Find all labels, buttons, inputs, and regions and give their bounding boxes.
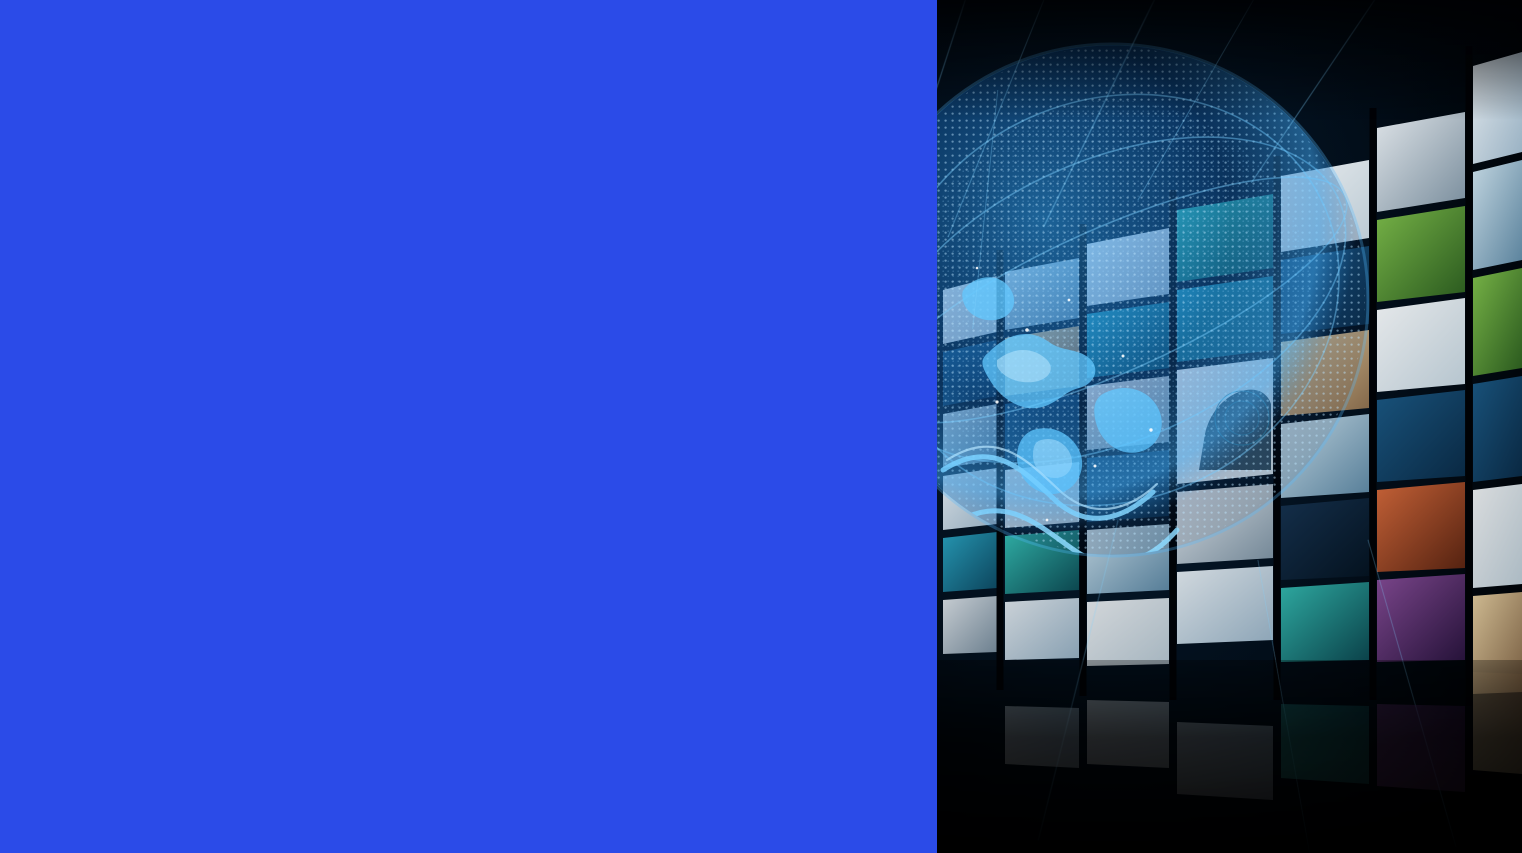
slide-canvas: best practices Broadcasting for Media an…	[0, 0, 1522, 853]
hero-photo	[937, 0, 1522, 853]
left-content-panel	[0, 0, 937, 853]
